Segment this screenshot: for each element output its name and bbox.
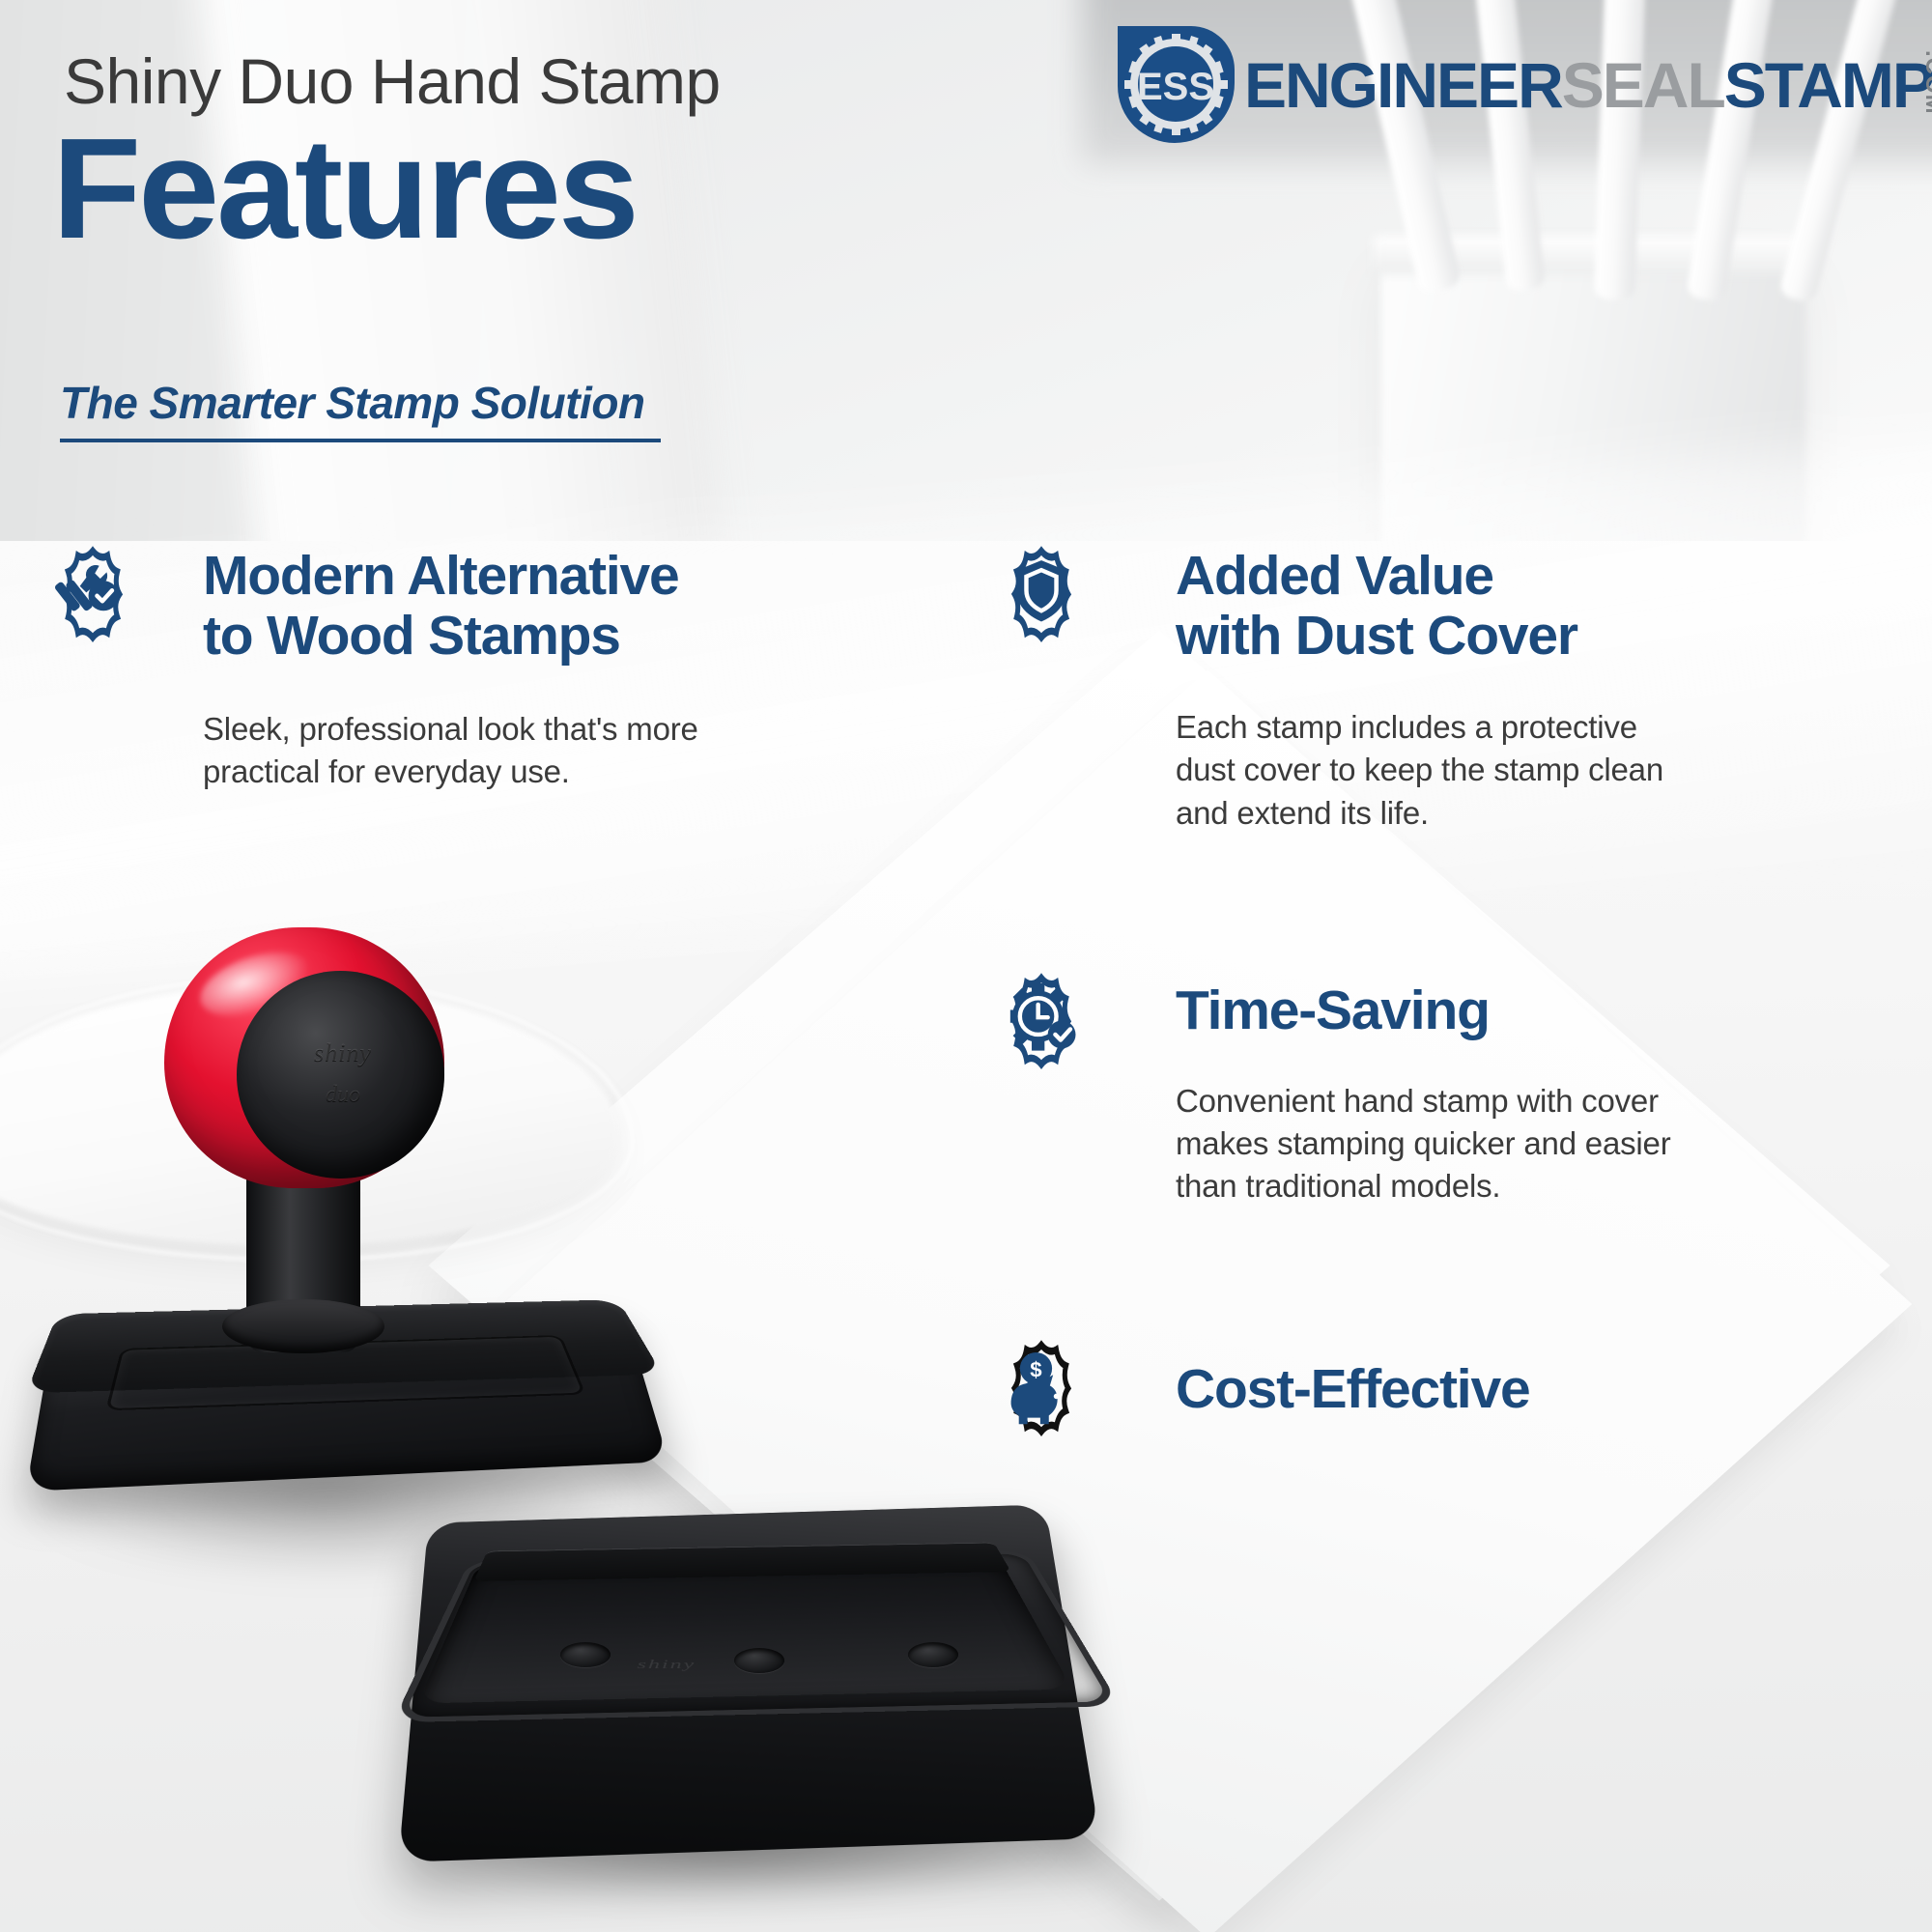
feature-title: Time-Saving: [1176, 981, 1905, 1041]
gear-clock-check-badge-icon: [987, 956, 1095, 1074]
dust-cover-peg: [908, 1642, 958, 1667]
subtitle-group: The Smarter Stamp Solution: [60, 377, 661, 442]
brand-dotcom: .COM: [1919, 50, 1932, 115]
hand-stamp-brand-text: shiny: [280, 1038, 406, 1067]
wrench-check-badge-icon: [39, 529, 147, 647]
infographic-page: shiny duo shiny Shiny Duo Hand Stamp Fea…: [0, 0, 1932, 1932]
feature-body: Each stamp includes a protective dust co…: [1176, 706, 1905, 835]
feature-modern-alternative: Modern Alternative to Wood Stamps Sleek,…: [39, 529, 927, 794]
svg-text:ESS: ESS: [1137, 66, 1214, 108]
brand-word-engineer: ENGINEER: [1244, 49, 1562, 121]
feature-body: Convenient hand stamp with cover makes s…: [1176, 1080, 1905, 1208]
page-title: Features: [52, 118, 637, 261]
subtitle-rule: [60, 439, 661, 442]
feature-title: Cost-Effective: [1176, 1360, 1905, 1420]
brand-word-seal: SEAL: [1562, 49, 1724, 121]
feature-added-value: Added Value with Dust Cover Each stamp i…: [987, 529, 1905, 835]
page-subtitle: The Smarter Stamp Solution: [60, 377, 661, 429]
piggy-bank-badge-icon: $: [987, 1323, 1095, 1441]
brand-word-stamps: STAMPS: [1724, 49, 1932, 121]
feature-title: Modern Alternative to Wood Stamps: [203, 547, 927, 666]
shield-badge-icon: [987, 529, 1095, 647]
feature-time-saving: Time-Saving Convenient hand stamp with c…: [987, 956, 1905, 1207]
feature-body: Sleek, professional look that's more pra…: [203, 708, 927, 793]
product-kicker: Shiny Duo Hand Stamp: [64, 44, 721, 118]
hand-stamp-model-text: duo: [285, 1082, 401, 1108]
feature-title: Added Value with Dust Cover: [1176, 547, 1905, 666]
ess-shield-icon: ESS: [1116, 24, 1236, 145]
hand-stamp-collar: [222, 1299, 384, 1353]
brand-wordmark: ENGINEERSEALSTAMPS: [1244, 48, 1932, 122]
dust-cover-brand-text: shiny: [579, 1658, 755, 1671]
feature-cost-effective: $ Cost-Effective: [987, 1323, 1905, 1420]
svg-text:$: $: [1030, 1357, 1042, 1381]
hand-stamp-black-cap: [237, 971, 444, 1179]
